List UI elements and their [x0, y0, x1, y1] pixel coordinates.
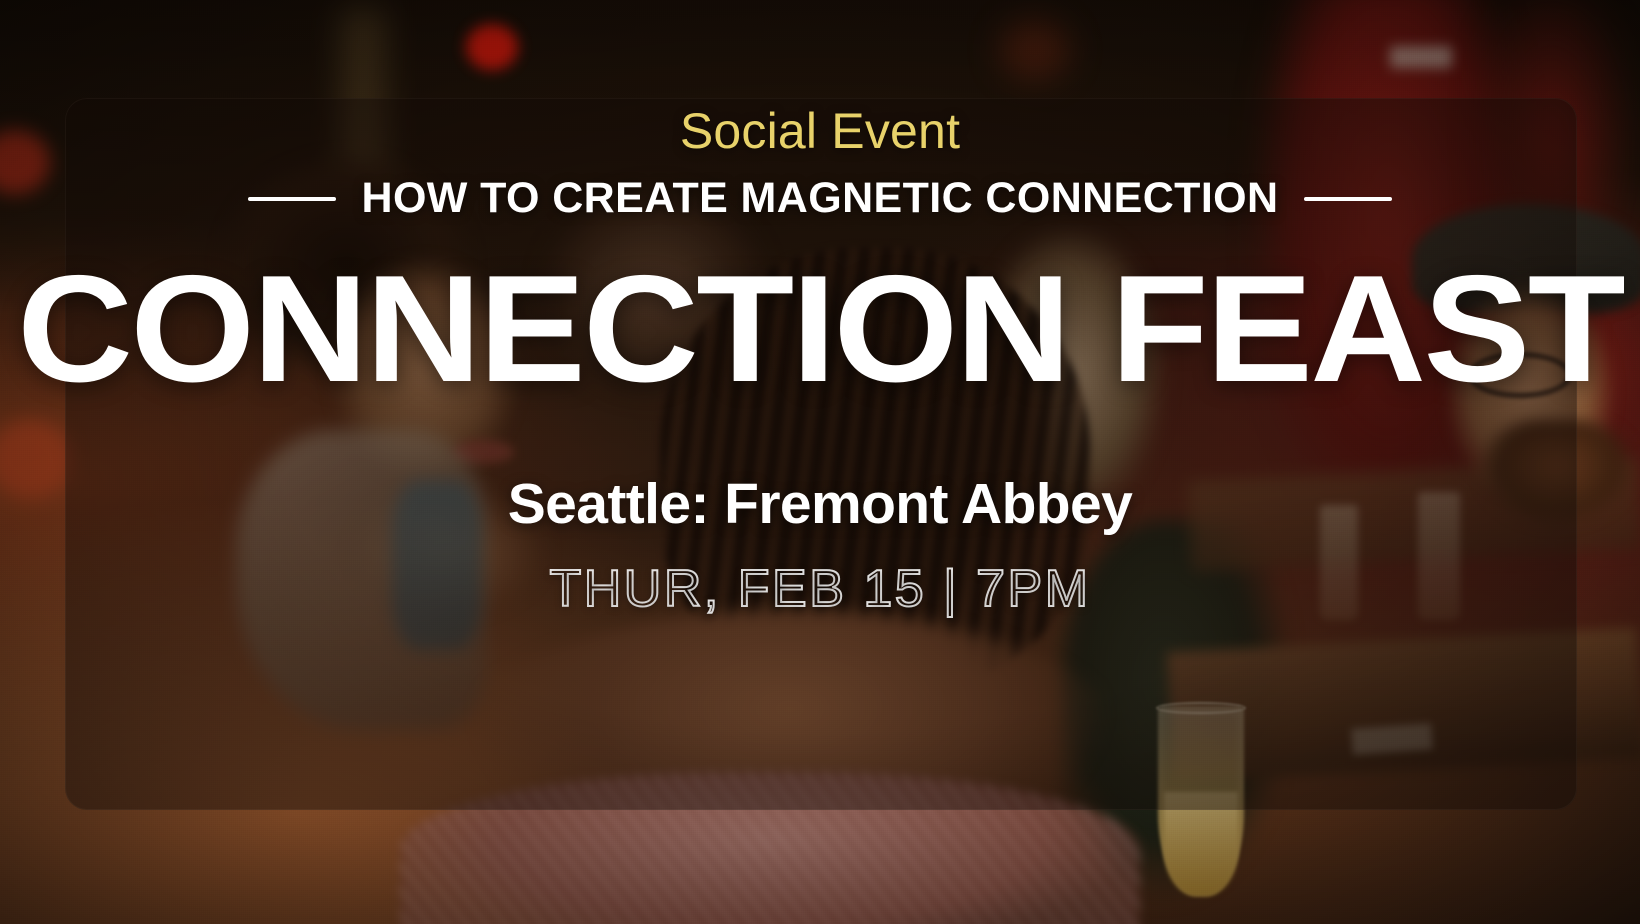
rule-right-icon	[1304, 197, 1392, 201]
rule-left-icon	[248, 197, 336, 201]
kicker-text: HOW TO CREATE MAGNETIC CONNECTION	[362, 174, 1279, 223]
page-title: CONNECTION FEAST	[17, 257, 1623, 403]
poster-content: Social Event HOW TO CREATE MAGNETIC CONN…	[0, 0, 1640, 924]
event-poster: Social Event HOW TO CREATE MAGNETIC CONN…	[0, 0, 1640, 924]
kicker-row: HOW TO CREATE MAGNETIC CONNECTION	[120, 174, 1520, 223]
category-label: Social Event	[680, 104, 960, 158]
venue-text: Seattle: Fremont Abbey	[508, 471, 1132, 537]
datetime-text: THUR, FEB 15 | 7PM	[549, 559, 1090, 619]
